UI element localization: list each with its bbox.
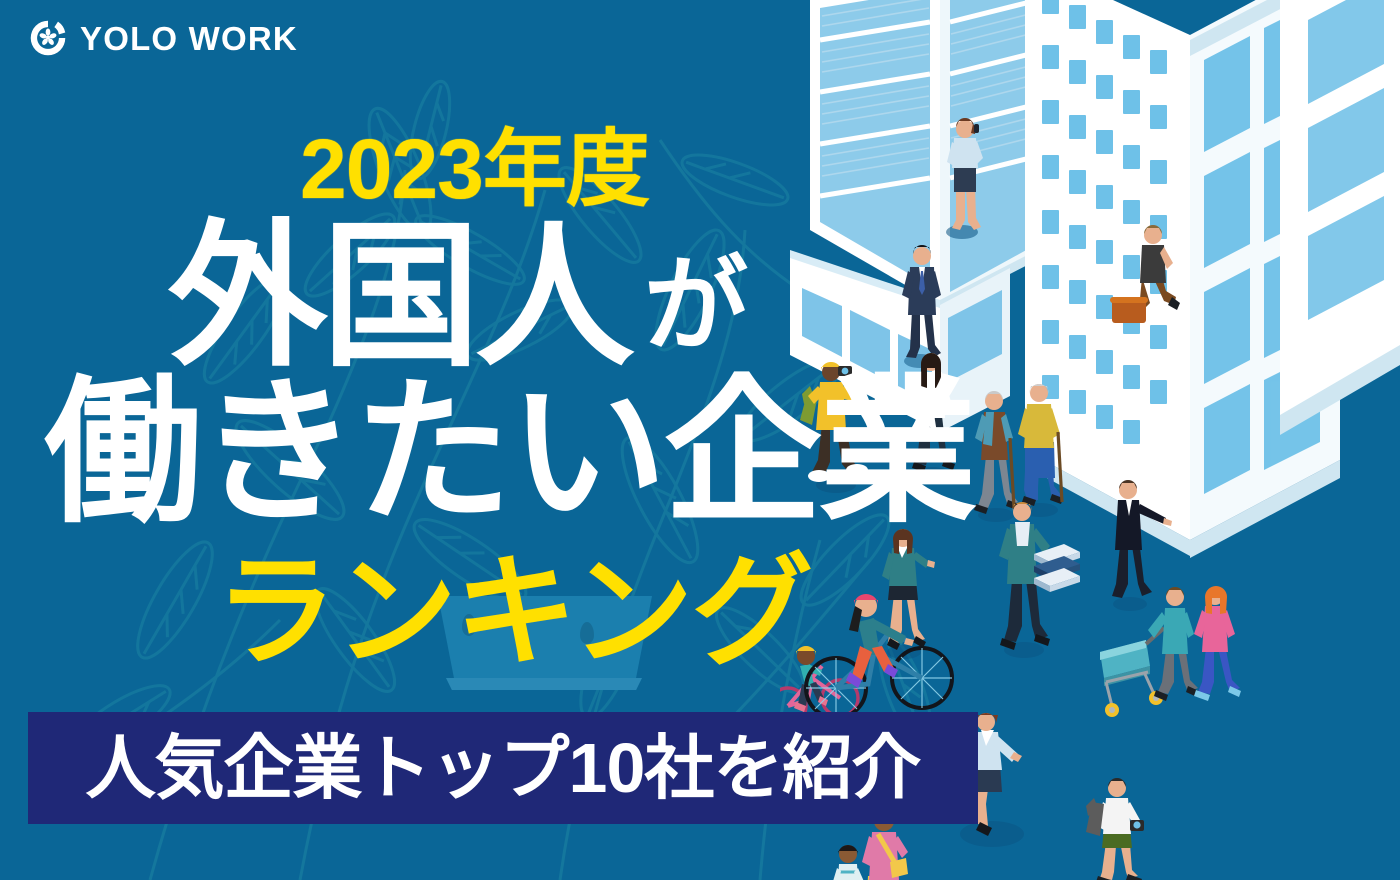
brand-name: YOLO WORK xyxy=(80,22,298,55)
person-backpacker-with-camera xyxy=(1086,778,1144,880)
brand-logo[interactable]: YOLO WORK xyxy=(28,18,298,58)
headline-line-b: 働きたい企業 xyxy=(44,378,974,528)
yolo-circle-mark-icon xyxy=(28,18,68,58)
headline-year: 2023年度 xyxy=(300,127,649,211)
banner-canvas: YOLO WORK 2023年度 外国人 が 働きたい企業 ランキング 人気企業… xyxy=(0,0,1400,880)
person-woman-on-bicycle xyxy=(806,594,952,718)
person-man-carrying-books xyxy=(999,502,1080,658)
headline-line-a: 外国人 が xyxy=(168,222,748,372)
person-elderly-couple xyxy=(974,384,1063,522)
subtitle-text: 人気企業トップ10社を紹介 xyxy=(86,733,921,803)
headline-line-a-particle: が xyxy=(644,254,748,358)
headline-ranking: ランキング xyxy=(215,551,811,673)
headline-line-a-main: 外国人 xyxy=(168,222,630,372)
subtitle-bar: 人気企業トップ10社を紹介 xyxy=(28,712,978,824)
office-tower-right xyxy=(1280,0,1400,435)
